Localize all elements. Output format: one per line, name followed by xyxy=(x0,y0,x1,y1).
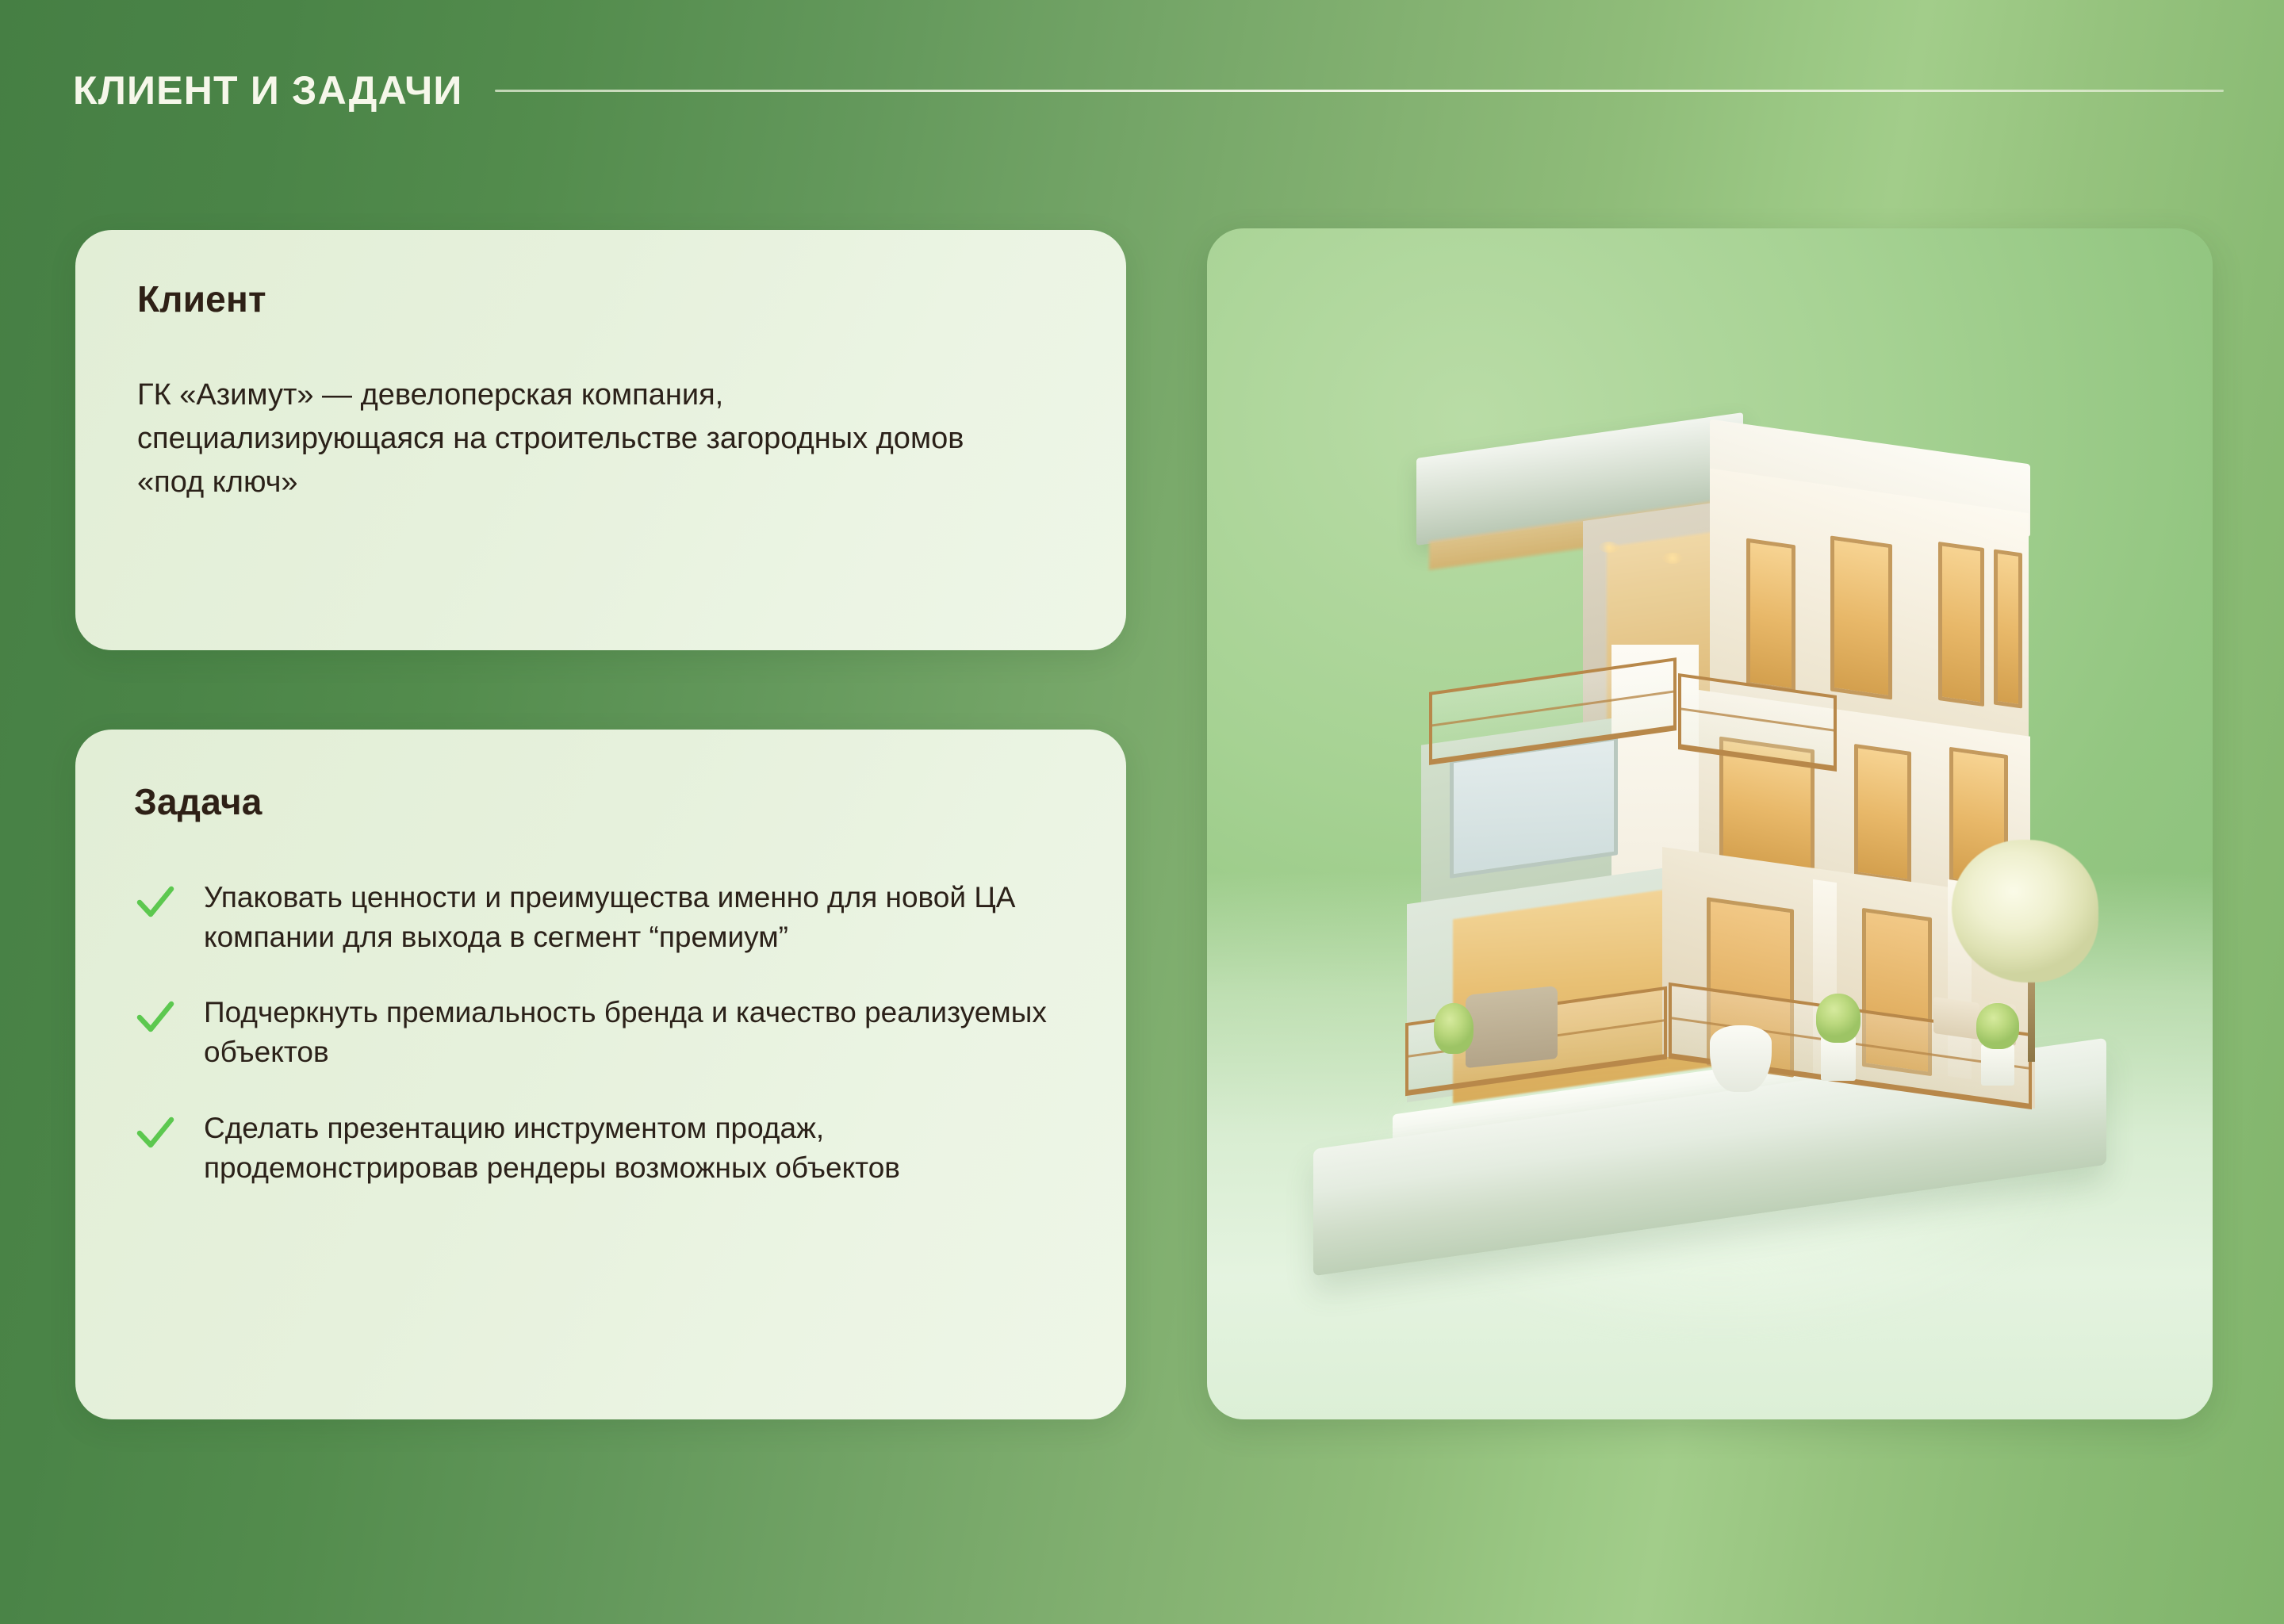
window xyxy=(1854,744,1911,883)
window xyxy=(1938,542,1984,707)
decor-vase xyxy=(1710,1025,1772,1092)
house-render-image xyxy=(1207,228,2213,1419)
task-item-text: Сделать презентацию инструментом продаж,… xyxy=(204,1109,1067,1188)
task-card: Задача Упаковать ценности и преимущества… xyxy=(75,730,1126,1419)
planter-pot xyxy=(1821,1036,1856,1081)
slide-root: КЛИЕНТ И ЗАДАЧИ Клиент ГК «Азимут» — дев… xyxy=(0,0,2284,1624)
header-divider-line xyxy=(495,90,2224,92)
list-item: Упаковать ценности и преимущества именно… xyxy=(134,878,1067,957)
task-item-text: Подчеркнуть премиальность бренда и качес… xyxy=(204,993,1067,1072)
list-item: Сделать презентацию инструментом продаж,… xyxy=(134,1109,1067,1188)
ceiling-spotlight xyxy=(1662,553,1683,564)
window xyxy=(1746,538,1795,693)
client-card-heading: Клиент xyxy=(137,279,1064,320)
planter-shrub xyxy=(1434,1003,1473,1054)
window xyxy=(1830,536,1892,700)
villa-illustration xyxy=(1266,380,2154,1316)
slide-header: КЛИЕНТ И ЗАДАЧИ xyxy=(73,62,2224,119)
planter-shrub xyxy=(1816,994,1861,1043)
task-list: Упаковать ценности и преимущества именно… xyxy=(134,878,1067,1189)
client-card-body: ГК «Азимут» — девелоперская компания, сп… xyxy=(137,373,1025,504)
client-card: Клиент ГК «Азимут» — девелоперская компа… xyxy=(75,230,1126,650)
check-icon xyxy=(134,996,177,1039)
window xyxy=(1994,550,2022,709)
check-icon xyxy=(134,881,177,924)
task-card-heading: Задача xyxy=(134,782,1067,822)
planter-pot xyxy=(1981,1044,2014,1086)
list-item: Подчеркнуть премиальность бренда и качес… xyxy=(134,993,1067,1072)
task-item-text: Упаковать ценности и преимущества именно… xyxy=(204,878,1067,957)
armchair xyxy=(1466,986,1558,1068)
tree-canopy xyxy=(1952,840,2098,982)
ceiling-spotlight xyxy=(1599,542,1619,553)
planter-shrub xyxy=(1976,1003,2019,1049)
page-title: КЛИЕНТ И ЗАДАЧИ xyxy=(73,71,463,110)
check-icon xyxy=(134,1112,177,1155)
terrace-table xyxy=(1933,997,1979,1040)
